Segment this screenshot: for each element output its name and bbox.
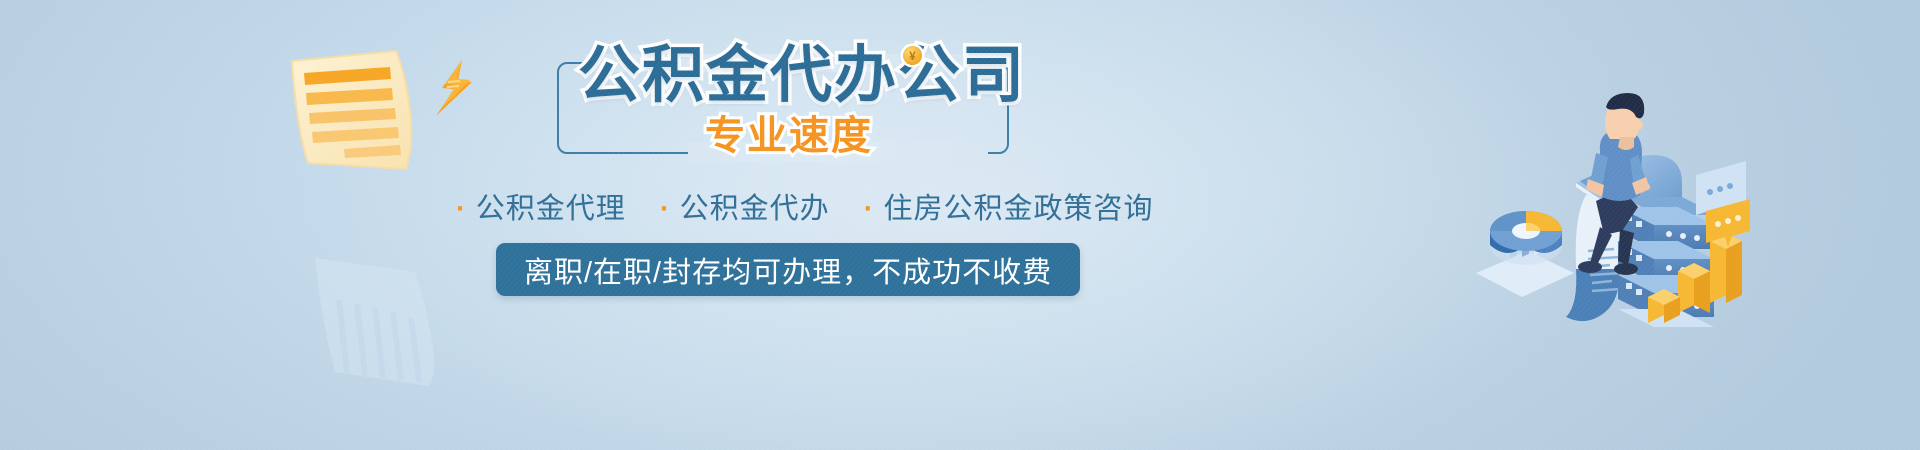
bullet-icon: · [864,193,875,225]
feature-list: · 公积金代理 · 公积金代办 · 住房公积金政策咨询 [456,185,1116,227]
feature-item-3: 住房公积金政策咨询 [883,193,1153,225]
bullet-icon: · [660,193,671,225]
isometric-data-analyst-illustration [1470,55,1750,355]
promo-banner: 公积金代办公司 ¥ 专业速度 · 公积金代理 · 公积金代办 · 住房公积金政策… [0,0,1920,450]
cta-label: 离职/在职/封存均可办理，不成功不收费 [524,249,1052,291]
bullet-icon: · [456,193,467,225]
banner-text-block: 公积金代办公司 ¥ 专业速度 · 公积金代理 · 公积金代办 · 住房公积金政策… [0,0,1180,450]
coin-icon: ¥ [903,46,922,65]
pie-chart-icon [1490,211,1562,265]
coin-symbol: ¥ [909,50,916,62]
feature-item-1: 公积金代理 [476,193,626,225]
page-title: 公积金代办公司 [578,45,1026,107]
feature-item-2: 公积金代办 [680,193,830,225]
cta-badge[interactable]: 离职/在职/封存均可办理，不成功不收费 [496,243,1080,296]
page-subtitle: 专业速度 [705,116,873,156]
